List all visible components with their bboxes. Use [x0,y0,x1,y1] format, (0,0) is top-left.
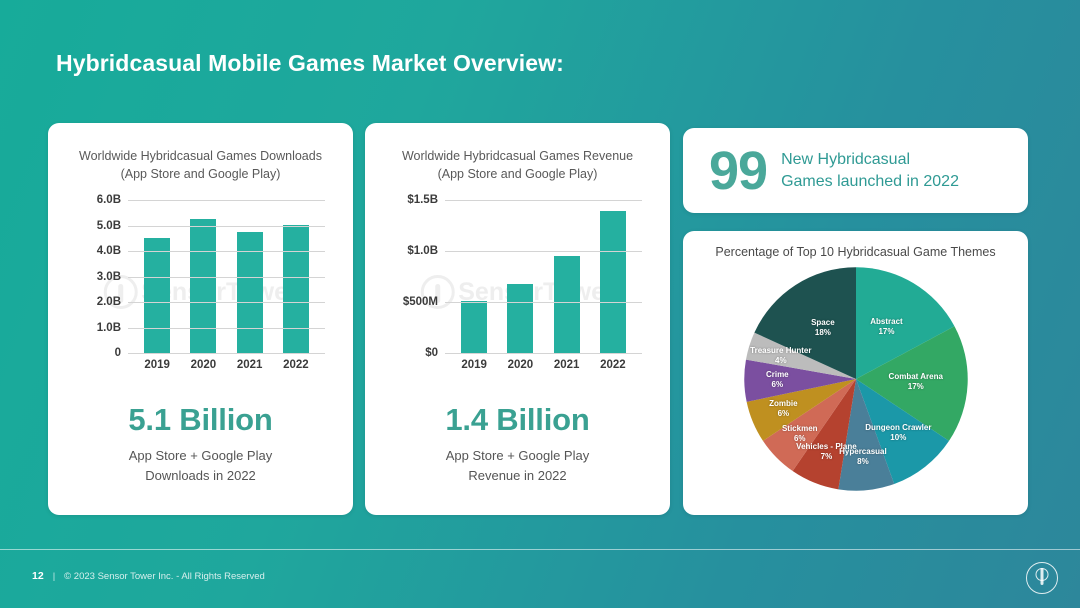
downloads-caption-line1: App Store + Google Play [48,446,353,466]
y-axis-tick-label: $1.0B [407,245,438,257]
gridline: 2.0B [128,302,325,303]
bar [554,256,580,354]
themes-pie-chart: Abstract17%Combat Arena17%Dungeon Crawle… [742,265,970,493]
game-themes-card: Percentage of Top 10 Hybridcasual Game T… [683,231,1028,515]
gridline: 3.0B [128,277,325,278]
revenue-big-stat: 1.4 Billion [365,402,670,438]
bar [283,225,309,355]
x-axis-tick-label: 2020 [191,359,217,371]
bar [144,238,170,354]
downloads-big-stat: 5.1 Billion [48,402,353,438]
downloads-caption-line2: Downloads in 2022 [48,466,353,486]
launched-count: 99 [709,144,767,198]
revenue-card: Worldwide Hybridcasual Games Revenue (Ap… [365,123,670,515]
copyright-text: © 2023 Sensor Tower Inc. - All Rights Re… [64,571,265,582]
revenue-plot-area: 2019202020212022 $0$500M$1.0B$1.5B [445,201,642,354]
bar-column: 2022 [600,201,626,354]
revenue-stat-caption: App Store + Google Play Revenue in 2022 [365,446,670,485]
footer: 12 | © 2023 Sensor Tower Inc. - All Righ… [32,570,265,582]
footer-divider [0,549,1080,550]
bar [461,301,487,354]
page-number: 12 [32,570,44,582]
y-axis-tick-label: 3.0B [97,271,121,283]
bar-column: 2022 [283,201,309,354]
sensor-tower-logo-icon [1026,562,1058,594]
downloads-bars: 2019202020212022 [134,201,319,354]
gridline: $1.0B [445,251,642,252]
page-title: Hybridcasual Mobile Games Market Overvie… [56,50,564,77]
launched-caption-line2: Games launched in 2022 [781,171,959,193]
x-axis-tick-label: 2020 [508,359,534,371]
bar-column: 2020 [507,201,533,354]
revenue-bars: 2019202020212022 [451,201,636,354]
gridline: $1.5B [445,200,642,201]
downloads-chart-heading: Worldwide Hybridcasual Games Downloads (… [48,147,353,183]
downloads-card: Worldwide Hybridcasual Games Downloads (… [48,123,353,515]
y-axis-tick-label: 5.0B [97,220,121,232]
launched-caption: New Hybridcasual Games launched in 2022 [781,149,959,192]
y-axis-tick-label: 2.0B [97,296,121,308]
downloads-stat-caption: App Store + Google Play Downloads in 202… [48,446,353,485]
x-axis-tick-label: 2019 [144,359,170,371]
revenue-heading-line2: (App Store and Google Play) [365,165,670,183]
y-axis-tick-label: $0 [425,347,438,359]
bar-column: 2021 [554,201,580,354]
revenue-caption-line2: Revenue in 2022 [365,466,670,486]
bar-column: 2019 [461,201,487,354]
footer-separator: | [53,571,55,582]
downloads-bar-chart: SensorTower 2019202020212022 01.0B2.0B3.… [76,201,325,376]
x-axis-tick-label: 2019 [461,359,487,371]
gridline: $500M [445,302,642,303]
downloads-heading-line2: (App Store and Google Play) [48,165,353,183]
bar-column: 2019 [144,201,170,354]
themes-pie-svg [742,265,970,493]
bar [237,232,263,354]
revenue-heading-line1: Worldwide Hybridcasual Games Revenue [365,147,670,165]
y-axis-tick-label: $1.5B [407,194,438,206]
revenue-chart-heading: Worldwide Hybridcasual Games Revenue (Ap… [365,147,670,183]
gridline: $0 [445,353,642,354]
gridline: 1.0B [128,328,325,329]
bar [507,284,533,354]
y-axis-tick-label: 0 [115,347,121,359]
downloads-plot-area: 2019202020212022 01.0B2.0B3.0B4.0B5.0B6.… [128,201,325,354]
bar-column: 2020 [190,201,216,354]
bar-column: 2021 [237,201,263,354]
y-axis-tick-label: $500M [403,296,438,308]
revenue-caption-line1: App Store + Google Play [365,446,670,466]
slide-root: Hybridcasual Mobile Games Market Overvie… [0,0,1080,608]
gridline: 5.0B [128,226,325,227]
downloads-heading-line1: Worldwide Hybridcasual Games Downloads [48,147,353,165]
launched-caption-line1: New Hybridcasual [781,149,959,171]
games-launched-card: 99 New Hybridcasual Games launched in 20… [683,128,1028,213]
x-axis-tick-label: 2021 [554,359,580,371]
y-axis-tick-label: 6.0B [97,194,121,206]
gridline: 6.0B [128,200,325,201]
x-axis-tick-label: 2022 [283,359,309,371]
bar [600,211,626,354]
gridline: 4.0B [128,251,325,252]
themes-chart-title: Percentage of Top 10 Hybridcasual Game T… [683,245,1028,259]
x-axis-tick-label: 2022 [600,359,626,371]
y-axis-tick-label: 1.0B [97,322,121,334]
revenue-bar-chart: SensorTower 2019202020212022 $0$500M$1.0… [393,201,642,376]
bar [190,219,216,354]
x-axis-tick-label: 2021 [237,359,263,371]
gridline: 0 [128,353,325,354]
y-axis-tick-label: 4.0B [97,245,121,257]
